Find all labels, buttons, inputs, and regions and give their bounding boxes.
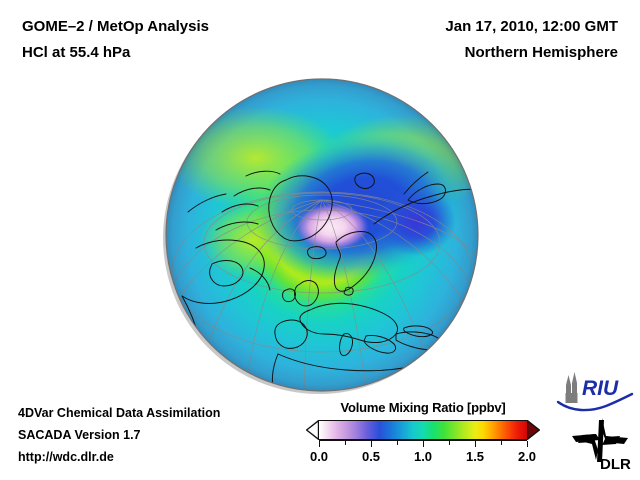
colorbar-axis bbox=[319, 440, 527, 448]
colorbar-tick-label: 1.0 bbox=[414, 449, 432, 464]
footer-line-method: 4DVar Chemical Data Assimilation bbox=[18, 402, 220, 424]
globe-contents bbox=[166, 79, 487, 402]
colorbar-tick-label: 1.5 bbox=[466, 449, 484, 464]
colorbar-tick-major bbox=[475, 441, 476, 447]
page-subtitle: HCl at 55.4 hPa bbox=[22, 40, 209, 66]
colorbar-tick-label: 0.5 bbox=[362, 449, 380, 464]
colorbar-tick-minor bbox=[345, 441, 346, 445]
header-title-block: GOME–2 / MetOp Analysis HCl at 55.4 hPa bbox=[22, 14, 209, 66]
colorbar-tick-minor bbox=[449, 441, 450, 445]
riu-logo: RIU bbox=[556, 369, 636, 413]
dlr-logo: DLR bbox=[566, 414, 636, 474]
colorbar-tick-label: 2.0 bbox=[518, 449, 536, 464]
dlr-wordmark: DLR bbox=[600, 456, 631, 473]
colorbar-tick-major bbox=[527, 441, 528, 447]
colorbar-title: Volume Mixing Ratio [ppbv] bbox=[306, 400, 540, 415]
riu-wordmark: RIU bbox=[582, 377, 619, 400]
orthographic-globe-svg bbox=[160, 72, 490, 402]
footer-line-version: SACADA Version 1.7 bbox=[18, 424, 220, 446]
region-label: Northern Hemisphere bbox=[445, 40, 618, 66]
globe-limb-shading bbox=[166, 79, 478, 391]
colorbar-max-arrow-icon bbox=[527, 420, 540, 440]
colorbar-tick-minor bbox=[397, 441, 398, 445]
header-meta-block: Jan 17, 2010, 12:00 GMT Northern Hemisph… bbox=[445, 14, 618, 66]
footer-credits: 4DVar Chemical Data Assimilation SACADA … bbox=[18, 402, 220, 468]
colorbar-tick-major bbox=[319, 441, 320, 447]
globe-map bbox=[160, 72, 490, 402]
cathedral-towers-icon bbox=[566, 372, 578, 403]
colorbar-tick-label: 0.0 bbox=[310, 449, 328, 464]
colorbar-min-arrow-icon bbox=[306, 420, 319, 440]
footer-line-url[interactable]: http://wdc.dlr.de bbox=[18, 446, 220, 468]
colorbar-strip bbox=[306, 420, 540, 440]
colorbar-gradient bbox=[319, 420, 527, 440]
colorbar-tick-labels: 0.0 0.5 1.0 1.5 2.0 bbox=[319, 449, 527, 467]
colorbar-tick-major bbox=[371, 441, 372, 447]
colorbar-tick-major bbox=[423, 441, 424, 447]
datetime-label: Jan 17, 2010, 12:00 GMT bbox=[445, 14, 618, 40]
page-title: GOME–2 / MetOp Analysis bbox=[22, 14, 209, 40]
colorbar-tick-minor bbox=[501, 441, 502, 445]
colorbar: Volume Mixing Ratio [ppbv] 0.0 0.5 1.0 1… bbox=[306, 400, 540, 467]
